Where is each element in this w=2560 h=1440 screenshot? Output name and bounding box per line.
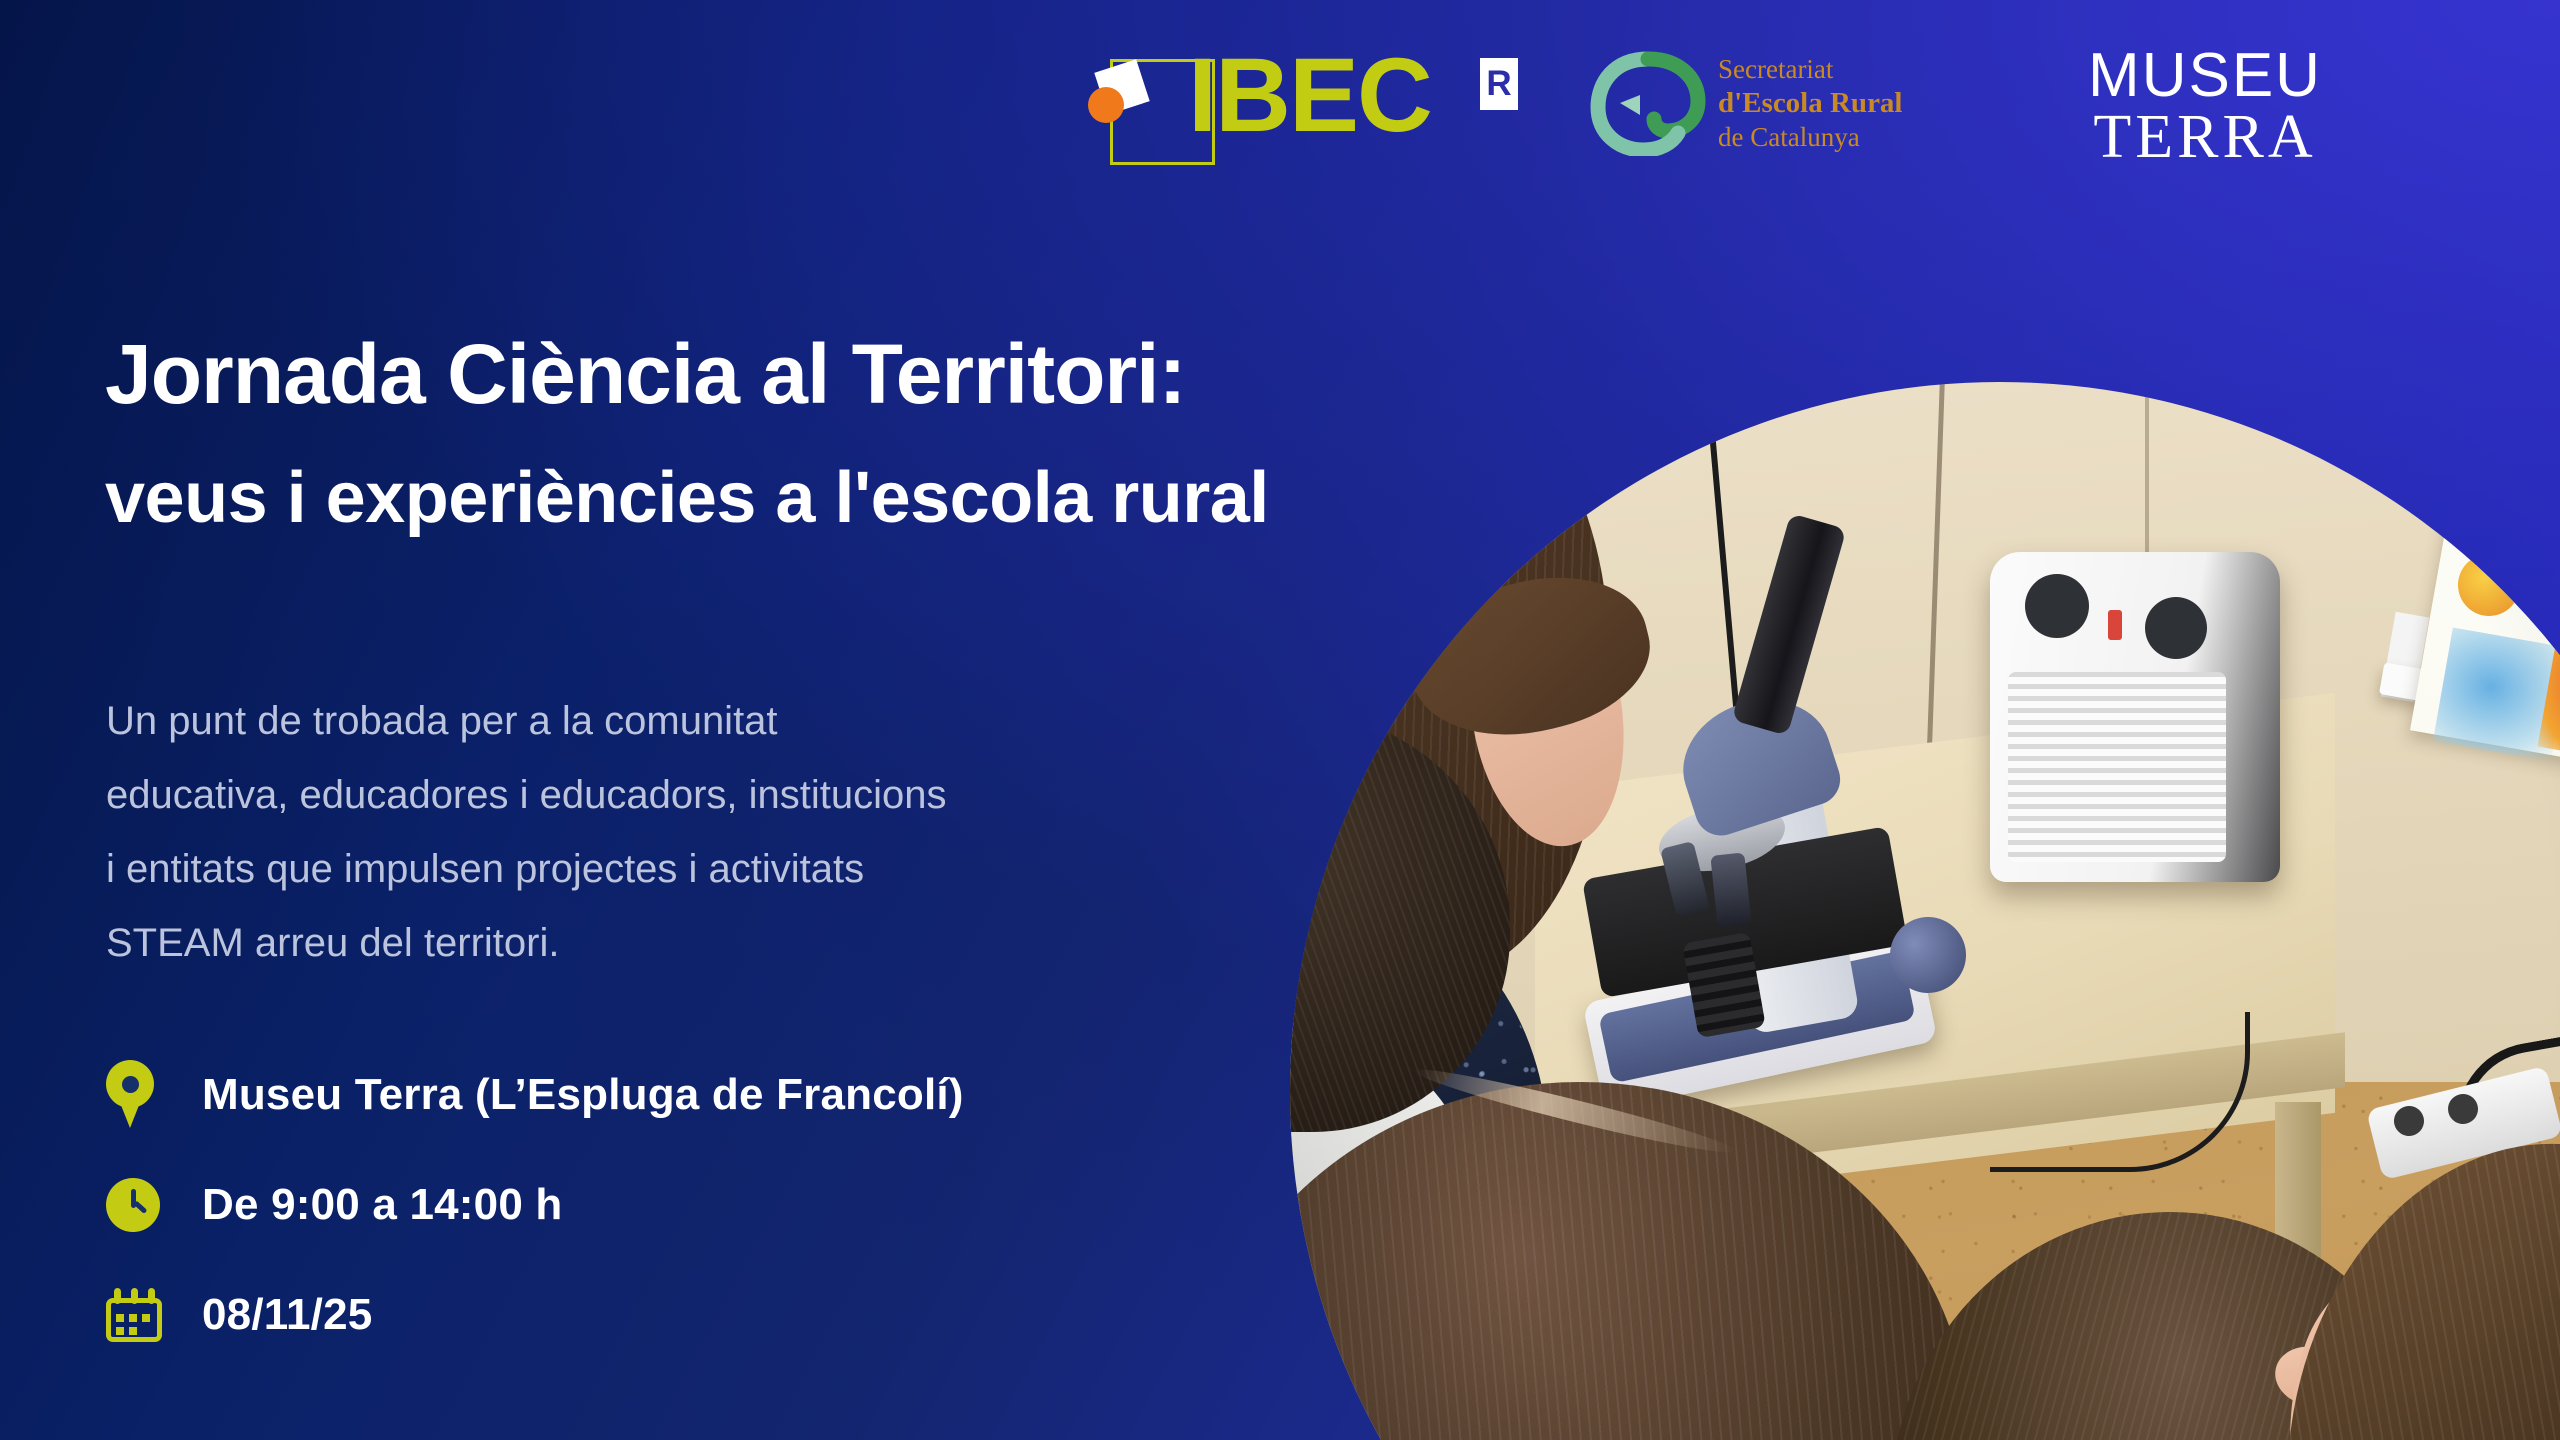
- logo-secretariat-escola-rural[interactable]: Secretariat d'Escola Rural de Catalunya: [1590, 49, 1950, 159]
- event-poster: El C: [0, 0, 2560, 1440]
- clock-icon: [106, 1178, 160, 1232]
- description-line-2: educativa, educadores i educadors, insti…: [106, 758, 1226, 832]
- detail-row-location: Museu Terra (L’Espluga de Francolí): [106, 1040, 1406, 1150]
- museu-terra-line-2: TERRA: [2040, 106, 2370, 168]
- title-line-1: Jornada Ciència al Territori:: [105, 326, 1665, 422]
- description-line-1: Un punt de trobada per a la comunitat: [106, 684, 1226, 758]
- calendar-icon-wrap: [106, 1288, 202, 1342]
- event-details: Museu Terra (L’Espluga de Francolí) De 9…: [106, 1040, 1406, 1370]
- detail-label-location: Museu Terra (L’Espluga de Francolí): [202, 1070, 964, 1120]
- location-icon-wrap: [106, 1060, 202, 1130]
- ibec-wordmark: IBEC: [1188, 41, 1431, 151]
- title-line-2: veus i experiències a l'escola rural: [105, 452, 1665, 544]
- detail-label-time: De 9:00 a 14:00 h: [202, 1180, 563, 1230]
- ibec-orange-dot-icon: [1088, 87, 1124, 123]
- detail-row-date: 08/11/25: [106, 1260, 1406, 1370]
- detail-row-time: De 9:00 a 14:00 h: [106, 1150, 1406, 1260]
- description-line-4: STEAM arreu del territori.: [106, 906, 1226, 980]
- secretariat-line-1: Secretariat: [1718, 53, 1903, 86]
- page-title: Jornada Ciència al Territori: veus i exp…: [105, 326, 1665, 544]
- secretariat-line-3: de Catalunya: [1718, 121, 1903, 154]
- secretariat-line-2: d'Escola Rural: [1718, 86, 1903, 121]
- logo-ibec[interactable]: IBEC R: [1080, 49, 1500, 159]
- partner-logo-bar: IBEC R Secretariat d'Escola Rural de Cat…: [1080, 46, 2500, 161]
- detail-label-date: 08/11/25: [202, 1290, 372, 1340]
- secretariat-swirl-icon: [1590, 51, 1706, 156]
- calendar-icon: [106, 1288, 162, 1342]
- description-line-3: i entitats que impulsen projectes i acti…: [106, 832, 1226, 906]
- secretariat-wordmark: Secretariat d'Escola Rural de Catalunya: [1718, 53, 1903, 154]
- clock-icon-wrap: [106, 1178, 202, 1232]
- ibec-registered-mark: R: [1480, 58, 1518, 110]
- museu-terra-line-1: MUSEU: [2040, 46, 2370, 106]
- logo-museu-terra[interactable]: MUSEU TERRA: [2040, 46, 2370, 161]
- location-pin-icon: [106, 1060, 154, 1130]
- event-description: Un punt de trobada per a la comunitat ed…: [106, 684, 1226, 980]
